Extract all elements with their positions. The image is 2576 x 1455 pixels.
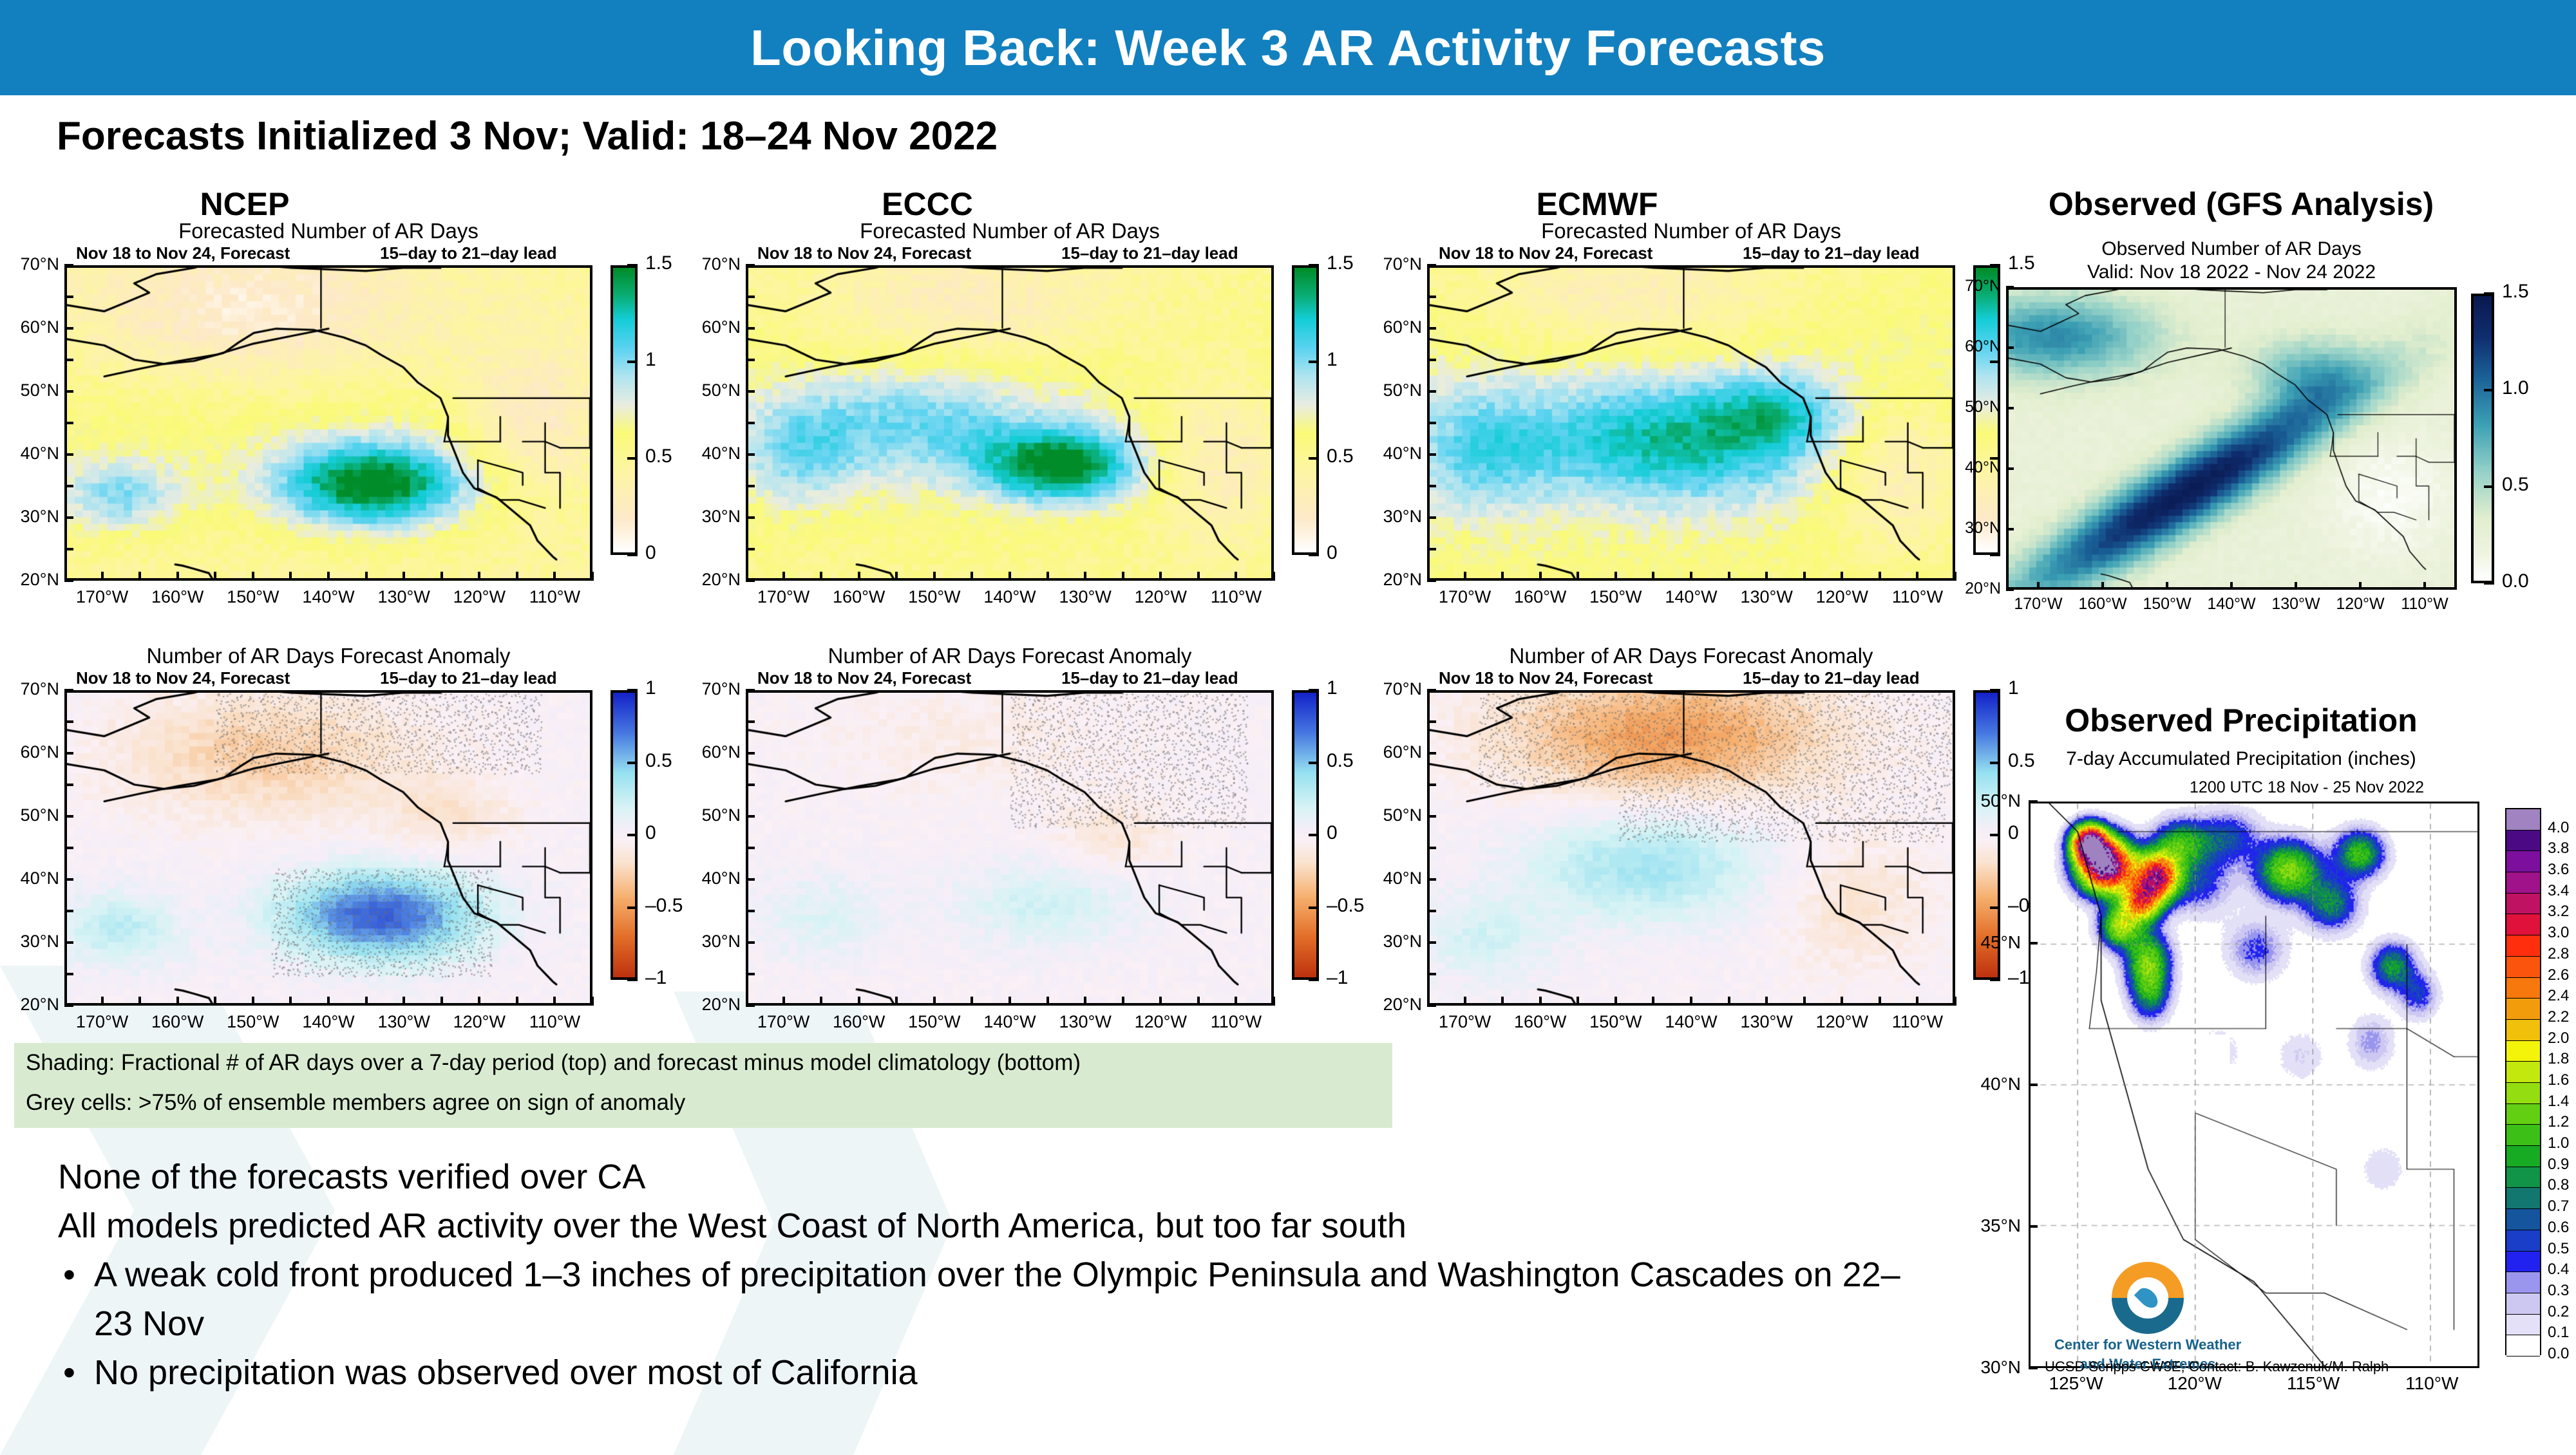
colorbar-precipitation-swatch-13 (2506, 1062, 2540, 1083)
fig-ecmwf-anomaly-xtick-0 (1464, 997, 1466, 1006)
fig-ncep-forecast-xlabel-6: 110°W (509, 587, 600, 607)
colorbar-eccc-anomaly-tick-0 (1309, 979, 1319, 981)
fig-ncep-anomaly-ytick-0 (64, 689, 73, 691)
fig-ncep-forecast-xtick-1 (176, 572, 179, 581)
fig-ecmwf-anomaly-xtick-minor (1577, 997, 1579, 1006)
colorbar-ecmwf-anomaly-tick-1 (1990, 906, 2000, 909)
colorbar-eccc-ardays-label-3: 1.5 (1327, 252, 1354, 274)
fig-ncep-anomaly-ylabel-3: 40°N (0, 868, 59, 888)
fig-ecmwf-anomaly-title: Number of AR Days Forecast Anomaly (1427, 644, 1955, 668)
fig-eccc-anomaly-ytick-3 (746, 878, 755, 881)
fig-ecmwf-forecast-xtick-0 (1464, 572, 1466, 581)
fig-ncep-forecast-xtick-0 (101, 572, 104, 581)
observed-xtick-6 (2423, 582, 2426, 590)
fig-ecmwf-forecast-xtick-minor (1879, 572, 1881, 581)
colorbar-eccc-anomaly-label-2: 0 (1327, 822, 1338, 844)
observed-ytick-0 (2006, 286, 2014, 288)
fig-ncep-forecast-xtick-minor (289, 572, 292, 581)
fig-ncep-anomaly-ytick-5 (64, 1004, 73, 1007)
fig-eccc-anomaly-ylabel-0: 70°N (674, 679, 741, 699)
colorbar-precipitation-label-6: 0.6 (2548, 1219, 2569, 1237)
fig-ecmwf-anomaly-sub-right: 15–day to 21–day lead (1743, 668, 1920, 688)
fig-eccc-forecast-ylabel-4: 30°N (674, 507, 741, 527)
fig-ncep-anomaly-xtick-minor (289, 997, 292, 1006)
colorbar-ecmwf-anomaly-tick-2 (1990, 834, 2000, 836)
fig-ncep-anomaly-xlabel-6: 110°W (509, 1012, 600, 1032)
colorbar-precipitation-swatch-24 (2506, 831, 2540, 852)
colorbar-ecmwf-anomaly-label-0: –1 (2008, 967, 2029, 989)
fig-ecmwf-anomaly-xtick-3 (1690, 997, 1692, 1006)
fig-ecmwf-anomaly-ylabel-2: 50°N (1355, 805, 1422, 825)
fig-eccc-anomaly-xtick-minor (1046, 997, 1049, 1006)
fig-ncep-anomaly-xtick-0 (101, 997, 104, 1006)
colorbar-precipitation-label-9: 0.9 (2548, 1156, 2569, 1174)
fig-ecmwf-forecast-xtick-minor (1803, 572, 1806, 581)
fig-ncep-forecast-ytick-2 (64, 390, 73, 393)
fig-eccc-forecast-xtick-5 (1159, 572, 1162, 581)
fig-ecmwf-anomaly-ylabel-0: 70°N (1355, 679, 1422, 699)
fig-ncep-anomaly-title: Number of AR Days Forecast Anomaly (64, 644, 592, 668)
fig-eccc-forecast-plot (746, 265, 1274, 581)
colorbar-ecmwf-ardays-tick-3 (1990, 264, 2000, 267)
bullet-0: None of the forecasts verified over CA (58, 1152, 1926, 1201)
fig-ecmwf-forecast-canvas (1430, 268, 1953, 578)
fig-eccc-forecast-xtick-minor (1197, 572, 1200, 581)
colorbar-ncep-anomaly-tick-2 (627, 834, 638, 836)
fig-ecmwf-forecast-xtick-minor (1501, 572, 1504, 581)
fig-ncep-anomaly-canvas (67, 693, 590, 1003)
colorbar-precipitation-label-8: 0.8 (2548, 1176, 2569, 1194)
precip-heading: Observed Precipitation (1971, 702, 2512, 739)
colorbar-ecmwf-anomaly-label-2: 0 (2008, 822, 2019, 844)
colorbar-precipitation-swatch-16 (2506, 999, 2540, 1020)
fig-eccc-anomaly-ytick-minor (746, 973, 755, 975)
fig-eccc-anomaly-xtick-minor (820, 997, 822, 1006)
colorbar-precipitation-swatch-10 (2506, 1125, 2540, 1146)
fig-ecmwf-forecast-plot (1427, 265, 1955, 581)
fig-ecmwf-forecast-xtick-minor (1577, 572, 1579, 581)
fig-eccc-anomaly-xtick-1 (858, 997, 860, 1006)
colorbar-precipitation-swatch-1 (2506, 1315, 2540, 1336)
fig-eccc-forecast-xtick-minor (895, 572, 898, 581)
precip-ylabel-0: 50°N (1956, 791, 2021, 811)
colorbar-ecmwf-ardays-tick-2 (1990, 361, 2000, 363)
fig-eccc-forecast-ytick-minor (746, 422, 755, 424)
colorbar-precipitation-label-24: 3.8 (2548, 840, 2569, 858)
fig-eccc-anomaly-xtick-6 (1235, 997, 1237, 1006)
fig-eccc-forecast-ytick-2 (746, 390, 755, 393)
fig-ecmwf-anomaly-xtick-2 (1615, 997, 1617, 1006)
colorbar-precipitation-swatch-2 (2506, 1293, 2540, 1315)
fig-ncep-anomaly-xtick-1 (176, 997, 179, 1006)
bullet-2: A weak cold front produced 1–3 inches of… (58, 1250, 1926, 1348)
fig-ncep-anomaly-xtick-2 (252, 997, 254, 1006)
fig-eccc-forecast-xtick-6 (1235, 572, 1237, 581)
precip-xlabel-1: 120°W (2150, 1373, 2240, 1394)
colorbar-eccc-anomaly-label-1: –0.5 (1327, 895, 1364, 917)
fig-eccc-anomaly-ylabel-2: 50°N (674, 805, 741, 825)
fig-ecmwf-forecast-ylabel-2: 50°N (1355, 380, 1422, 400)
colorbar-precipitation-swatch-25 (2506, 809, 2540, 831)
fig-ncep-anomaly-xtick-minor (214, 997, 216, 1006)
fig-ecmwf-anomaly-canvas (1430, 693, 1953, 1003)
fig-eccc-forecast-ylabel-2: 50°N (674, 380, 741, 400)
column-header-eccc: ECCC (792, 185, 1063, 223)
colorbar-ecmwf-anomaly-tick-4 (1990, 689, 2000, 691)
fig-eccc-anomaly-xtick-minor (1273, 997, 1275, 1006)
cw3e-logo-block: Center for Western Weather and Water Ext… (2054, 1262, 2241, 1373)
precip-xlabel-0: 125°W (2031, 1373, 2121, 1394)
colorbar-eccc-ardays-tick-0 (1309, 554, 1319, 556)
fig-eccc-forecast-ytick-5 (746, 579, 755, 582)
fig-eccc-forecast-xtick-4 (1084, 572, 1086, 581)
title-bar: Looking Back: Week 3 AR Activity Forecas… (0, 0, 2576, 95)
summary-bullets: None of the forecasts verified over CAAl… (58, 1152, 1926, 1397)
colorbar-ecmwf-anomaly-tick-0 (1990, 979, 2000, 981)
legend-line-1: Shading: Fractional # of AR days over a … (14, 1043, 1392, 1083)
fig-eccc-forecast-xtick-minor (1122, 572, 1124, 581)
fig-ncep-forecast-ytick-1 (64, 327, 73, 330)
fig-eccc-anomaly-ytick-4 (746, 941, 755, 944)
fig-ecmwf-anomaly-xtick-4 (1765, 997, 1768, 1006)
observed-subtitle: Valid: Nov 18 2022 - Nov 24 2022 (2006, 261, 2457, 283)
fig-ecmwf-anomaly-ytick-minor (1427, 784, 1436, 786)
legend-line-2: Grey cells: >75% of ensemble members agr… (14, 1083, 1392, 1123)
colorbar-ecmwf-anomaly-label-4: 1 (2008, 677, 2019, 699)
colorbar-ncep-anomaly-tick-1 (627, 906, 638, 909)
fig-ncep-forecast-ytick-minor (64, 422, 73, 424)
colorbar-precipitation-label-15: 2.0 (2548, 1029, 2569, 1047)
fig-ecmwf-forecast-ylabel-4: 30°N (1355, 507, 1422, 527)
fig-ecmwf-anomaly-xtick-minor (1954, 997, 1956, 1006)
observed-ylabel-4: 30°N (1939, 519, 2001, 538)
fig-ecmwf-anomaly-xtick-5 (1841, 997, 1843, 1006)
fig-eccc-anomaly-title: Number of AR Days Forecast Anomaly (746, 644, 1274, 668)
colorbar-ncep-anomaly-tick-3 (627, 762, 638, 764)
colorbar-precipitation-swatch-23 (2506, 851, 2540, 872)
bullet-1: All models predicted AR activity over th… (58, 1201, 1926, 1250)
fig-ecmwf-forecast-ytick-4 (1427, 516, 1436, 519)
fig-ncep-forecast-sub-right: 15–day to 21–day lead (380, 243, 557, 263)
fig-ncep-anomaly-ytick-1 (64, 752, 73, 755)
fig-ncep-forecast-xtick-2 (252, 572, 254, 581)
colorbar-observed-ardays-tick-1 (2484, 485, 2494, 488)
colorbar-eccc-anomaly-tick-2 (1309, 834, 1319, 836)
fig-eccc-anomaly-xtick-3 (1009, 997, 1011, 1006)
observed-xtick-2 (2166, 582, 2168, 590)
fig-eccc-anomaly-ytick-minor (746, 847, 755, 849)
colorbar-eccc-anomaly-tick-4 (1309, 689, 1319, 691)
colorbar-observed-ardays-label-1: 0.5 (2502, 474, 2529, 496)
fig-ecmwf-anomaly-xtick-minor (1803, 997, 1806, 1006)
colorbar-observed-ardays-label-0: 0.0 (2502, 570, 2529, 592)
fig-ncep-forecast-xtick-minor (591, 572, 594, 581)
fig-ecmwf-anomaly-ylabel-4: 30°N (1355, 932, 1422, 952)
fig-ncep-anomaly-xtick-minor (138, 997, 141, 1006)
fig-ecmwf-forecast-ytick-minor (1427, 548, 1436, 550)
colorbar-precipitation-label-23: 3.6 (2548, 861, 2569, 879)
fig-eccc-forecast-ytick-minor (746, 485, 755, 487)
fig-ncep-anomaly-xtick-minor (591, 997, 594, 1006)
fig-ncep-anomaly-ytick-4 (64, 941, 73, 944)
colorbar-precipitation-swatch-4 (2506, 1252, 2540, 1273)
colorbar-ncep-ardays-label-2: 1 (645, 349, 656, 371)
fig-eccc-forecast-ytick-3 (746, 453, 755, 456)
fig-ncep-forecast-xtick-minor (138, 572, 141, 581)
fig-eccc-forecast-xtick-minor (1046, 572, 1049, 581)
fig-ecmwf-anomaly-xlabel-6: 110°W (1872, 1012, 1962, 1032)
subtitle: Forecasts Initialized 3 Nov; Valid: 18–2… (57, 113, 998, 159)
fig-ncep-anomaly-ylabel-2: 50°N (0, 805, 59, 825)
fig-eccc-anomaly-ytick-minor (746, 784, 755, 786)
observed-ytick-5 (2006, 588, 2014, 591)
colorbar-precipitation-label-2: 0.2 (2548, 1303, 2569, 1321)
colorbar-precipitation-swatch-0 (2506, 1335, 2540, 1356)
precip-timestamp: 1200 UTC 18 Nov - 25 Nov 2022 (2190, 778, 2424, 797)
colorbar-precipitation-label-1: 0.1 (2548, 1324, 2569, 1342)
fig-eccc-forecast-xtick-1 (858, 572, 860, 581)
fig-ecmwf-forecast-ytick-3 (1427, 453, 1436, 456)
colorbar-precipitation-label-7: 0.7 (2548, 1197, 2569, 1216)
colorbar-precipitation-label-0: 0.0 (2548, 1345, 2569, 1363)
colorbar-precipitation-label-19: 2.8 (2548, 945, 2569, 963)
fig-ncep-forecast-ytick-5 (64, 579, 73, 582)
observed-ylabel-1: 60°N (1939, 337, 2001, 356)
fig-eccc-forecast-xtick-minor (1273, 572, 1275, 581)
observed-plot (2006, 287, 2457, 590)
fig-ecmwf-anomaly-ytick-2 (1427, 815, 1436, 818)
fig-eccc-forecast-ylabel-0: 70°N (674, 254, 741, 274)
precip-ylabel-1: 45°N (1956, 932, 2021, 953)
colorbar-ncep-ardays (611, 265, 638, 555)
fig-eccc-forecast-xtick-2 (933, 572, 936, 581)
fig-eccc-forecast-xtick-0 (782, 572, 785, 581)
colorbar-precipitation-label-22: 3.4 (2548, 882, 2569, 900)
colorbar-precipitation-label-16: 2.2 (2548, 1008, 2569, 1026)
precip-xlabel-2: 115°W (2268, 1373, 2358, 1394)
fig-ncep-anomaly-xtick-minor (440, 997, 443, 1006)
colorbar-precipitation-swatch-6 (2506, 1209, 2540, 1230)
fig-ecmwf-anomaly-ytick-minor (1427, 847, 1436, 849)
colorbar-ncep-ardays-tick-2 (627, 361, 638, 363)
colorbar-eccc-ardays-label-2: 1 (1327, 349, 1338, 371)
fig-ecmwf-forecast-ytick-2 (1427, 390, 1436, 393)
fig-ecmwf-forecast-xtick-6 (1916, 572, 1918, 581)
colorbar-ncep-anomaly-label-3: 0.5 (645, 750, 672, 772)
precip-ytick-2 (2029, 1084, 2038, 1086)
fig-ncep-forecast-ylabel-5: 20°N (0, 570, 59, 590)
precip-ylabel-3: 35°N (1956, 1216, 2021, 1236)
colorbar-precipitation-label-17: 2.4 (2548, 987, 2569, 1005)
fig-ncep-anomaly-sub-left: Nov 18 to Nov 24, Forecast (76, 668, 290, 688)
fig-ncep-forecast-ylabel-3: 40°N (0, 444, 59, 464)
fig-ncep-anomaly-plot (64, 690, 592, 1006)
fig-ecmwf-forecast-xtick-2 (1615, 572, 1617, 581)
fig-ncep-anomaly-ytick-minor (64, 910, 73, 912)
fig-ncep-anomaly-ytick-minor (64, 847, 73, 849)
fig-eccc-forecast-ylabel-3: 40°N (674, 444, 741, 464)
colorbar-ncep-ardays-label-1: 0.5 (645, 446, 672, 467)
colorbar-ncep-anomaly-label-0: –1 (645, 967, 667, 989)
fig-eccc-anomaly-xtick-minor (895, 997, 898, 1006)
fig-eccc-anomaly-xlabel-6: 110°W (1191, 1012, 1281, 1032)
colorbar-observed-ardays-tick-2 (2484, 389, 2494, 391)
colorbar-eccc-ardays-label-1: 0.5 (1327, 446, 1354, 467)
fig-eccc-anomaly-xtick-2 (933, 997, 936, 1006)
fig-ncep-forecast-ytick-3 (64, 453, 73, 456)
fig-ecmwf-forecast-xtick-5 (1841, 572, 1843, 581)
precip-ytick-4 (2029, 1367, 2038, 1369)
fig-ecmwf-forecast-xtick-1 (1539, 572, 1542, 581)
fig-eccc-anomaly-ylabel-1: 60°N (674, 742, 741, 762)
precip-ylabel-2: 40°N (1956, 1074, 2021, 1094)
fig-ncep-forecast-ytick-minor (64, 548, 73, 550)
fig-ecmwf-anomaly-ytick-3 (1427, 878, 1436, 881)
fig-ecmwf-forecast-ytick-minor (1427, 422, 1436, 424)
observed-xtick-0 (2037, 582, 2040, 590)
fig-eccc-anomaly-ytick-2 (746, 815, 755, 818)
fig-ecmwf-forecast-xtick-minor (1728, 572, 1730, 581)
colorbar-eccc-ardays-canvas (1294, 268, 1316, 552)
fig-ncep-anomaly-ylabel-4: 30°N (0, 932, 59, 952)
fig-ncep-anomaly-ytick-2 (64, 815, 73, 818)
fig-eccc-forecast-xtick-minor (971, 572, 973, 581)
fig-ecmwf-forecast-ytick-1 (1427, 327, 1436, 330)
fig-ncep-anomaly-sub-right: 15–day to 21–day lead (380, 668, 557, 688)
fig-eccc-forecast-ytick-minor (746, 359, 755, 361)
fig-ncep-anomaly-xtick-minor (365, 997, 368, 1006)
colorbar-precipitation-swatch-5 (2506, 1230, 2540, 1252)
fig-eccc-forecast-xtick-3 (1009, 572, 1011, 581)
cw3e-logo-icon (2112, 1262, 2184, 1334)
colorbar-precipitation-label-13: 1.6 (2548, 1071, 2569, 1089)
fig-ncep-forecast-ytick-minor (64, 296, 73, 298)
colorbar-ncep-anomaly-tick-0 (627, 979, 638, 981)
fig-ncep-forecast-ylabel-2: 50°N (0, 380, 59, 400)
fig-eccc-anomaly-ylabel-3: 40°N (674, 868, 741, 888)
fig-ecmwf-forecast-ytick-minor (1427, 359, 1436, 361)
colorbar-ncep-ardays-tick-1 (627, 457, 638, 460)
colorbar-precipitation-label-3: 0.3 (2548, 1282, 2569, 1300)
fig-eccc-forecast-ytick-1 (746, 327, 755, 330)
fig-ncep-forecast-xtick-minor (440, 572, 443, 581)
fig-ecmwf-anomaly-ytick-1 (1427, 752, 1436, 755)
fig-ecmwf-anomaly-xtick-minor (1879, 997, 1881, 1006)
fig-eccc-anomaly-ytick-1 (746, 752, 755, 755)
colorbar-precipitation (2505, 808, 2541, 1355)
fig-ecmwf-forecast-ylabel-5: 20°N (1355, 570, 1422, 590)
colorbar-precipitation-swatch-22 (2506, 872, 2540, 894)
fig-ncep-anomaly-xtick-4 (402, 997, 405, 1006)
observed-ytick-1 (2006, 346, 2014, 349)
observed-xtick-4 (2295, 582, 2297, 590)
observed-xtick-1 (2101, 582, 2104, 590)
fig-eccc-anomaly-sub-left: Nov 18 to Nov 24, Forecast (757, 668, 971, 688)
fig-ncep-forecast-ylabel-4: 30°N (0, 507, 59, 527)
fig-eccc-anomaly-ytick-minor (746, 910, 755, 912)
observed-ytick-2 (2006, 407, 2014, 409)
fig-eccc-anomaly-ytick-0 (746, 689, 755, 691)
fig-eccc-anomaly-xtick-minor (1197, 997, 1200, 1006)
precip-ytick-0 (2029, 800, 2038, 803)
fig-ecmwf-anomaly-ylabel-3: 40°N (1355, 868, 1422, 888)
fig-ncep-forecast-ylabel-1: 60°N (0, 317, 59, 337)
colorbar-precipitation-swatch-9 (2506, 1146, 2540, 1167)
fig-ecmwf-forecast-xtick-4 (1765, 572, 1768, 581)
column-header-observed: Observed (GFS Analysis) (1984, 185, 2499, 223)
fig-ncep-forecast-ylabel-0: 70°N (0, 254, 59, 274)
colorbar-ecmwf-ardays-tick-0 (1990, 554, 2000, 556)
fig-ncep-anomaly-ytick-minor (64, 720, 73, 723)
colorbar-precipitation-swatch-7 (2506, 1188, 2540, 1209)
observed-title: Observed Number of AR Days (2006, 238, 2457, 260)
column-header-ecmwf: ECMWF (1462, 185, 1732, 223)
fig-ecmwf-anomaly-xtick-minor (1652, 997, 1654, 1006)
observed-ylabel-2: 50°N (1939, 398, 2001, 417)
colorbar-precipitation-swatch-20 (2506, 914, 2540, 935)
fig-ncep-anomaly-ytick-minor (64, 784, 73, 786)
colorbar-eccc-anomaly-label-0: –1 (1327, 967, 1348, 989)
colorbar-observed-ardays-canvas (2474, 296, 2492, 581)
fig-ncep-anomaly-ylabel-0: 70°N (0, 679, 59, 699)
fig-eccc-forecast-ylabel-5: 20°N (674, 570, 741, 590)
fig-ncep-forecast-xtick-minor (516, 572, 518, 581)
fig-ecmwf-forecast-sub-right: 15–day to 21–day lead (1743, 243, 1920, 263)
colorbar-eccc-anomaly-label-4: 1 (1327, 677, 1338, 699)
fig-eccc-forecast-sub-left: Nov 18 to Nov 24, Forecast (757, 243, 971, 263)
colorbar-precipitation-swatch-11 (2506, 1104, 2540, 1125)
bullet-3: No precipitation was observed over most … (58, 1348, 1926, 1397)
fig-ecmwf-forecast-ytick-minor (1427, 296, 1436, 298)
observed-xtick-3 (2230, 582, 2233, 590)
fig-ncep-forecast-xtick-6 (553, 572, 556, 581)
fig-eccc-anomaly-ytick-5 (746, 1004, 755, 1007)
colorbar-precipitation-swatch-18 (2506, 957, 2540, 978)
shading-legend-box: Shading: Fractional # of AR days over a … (14, 1043, 1392, 1128)
observed-ylabel-3: 40°N (1939, 458, 2001, 477)
fig-ncep-forecast-xtick-5 (478, 572, 480, 581)
colorbar-ncep-ardays-label-3: 1.5 (645, 252, 672, 274)
observed-xtick-5 (2359, 582, 2362, 590)
page-title: Looking Back: Week 3 AR Activity Forecas… (0, 0, 2576, 95)
fig-ecmwf-forecast-ylabel-0: 70°N (1355, 254, 1422, 274)
fig-ncep-forecast-plot (64, 265, 592, 581)
bullet-text-3: No precipitation was observed over most … (94, 1348, 1910, 1397)
fig-ecmwf-forecast-xtick-3 (1690, 572, 1692, 581)
fig-ecmwf-anomaly-ylabel-1: 60°N (1355, 742, 1422, 762)
colorbar-eccc-anomaly-tick-1 (1309, 906, 1319, 909)
colorbar-precipitation-swatch-15 (2506, 1020, 2540, 1041)
fig-ecmwf-forecast-ylabel-1: 60°N (1355, 317, 1422, 337)
fig-ecmwf-anomaly-ytick-4 (1427, 941, 1436, 944)
colorbar-precipitation-swatch-21 (2506, 894, 2540, 915)
fig-ncep-anomaly-ylabel-1: 60°N (0, 742, 59, 762)
fig-ecmwf-anomaly-ytick-5 (1427, 1004, 1436, 1007)
observed-ylabel-0: 70°N (1939, 277, 2001, 296)
fig-ecmwf-forecast-sub-left: Nov 18 to Nov 24, Forecast (1439, 243, 1653, 263)
fig-ncep-anomaly-ytick-3 (64, 878, 73, 881)
fig-eccc-anomaly-ytick-minor (746, 720, 755, 723)
colorbar-ncep-ardays-tick-0 (627, 554, 638, 556)
colorbar-precipitation-label-12: 1.4 (2548, 1093, 2569, 1111)
fig-eccc-anomaly-ylabel-5: 20°N (674, 995, 741, 1015)
fig-eccc-anomaly-xtick-minor (1122, 997, 1124, 1006)
colorbar-eccc-ardays-tick-2 (1309, 361, 1319, 363)
fig-ecmwf-anomaly-ytick-minor (1427, 973, 1436, 975)
fig-ncep-forecast-ytick-0 (64, 264, 73, 267)
observed-ytick-3 (2006, 467, 2014, 470)
fig-eccc-anomaly-xtick-4 (1084, 997, 1086, 1006)
